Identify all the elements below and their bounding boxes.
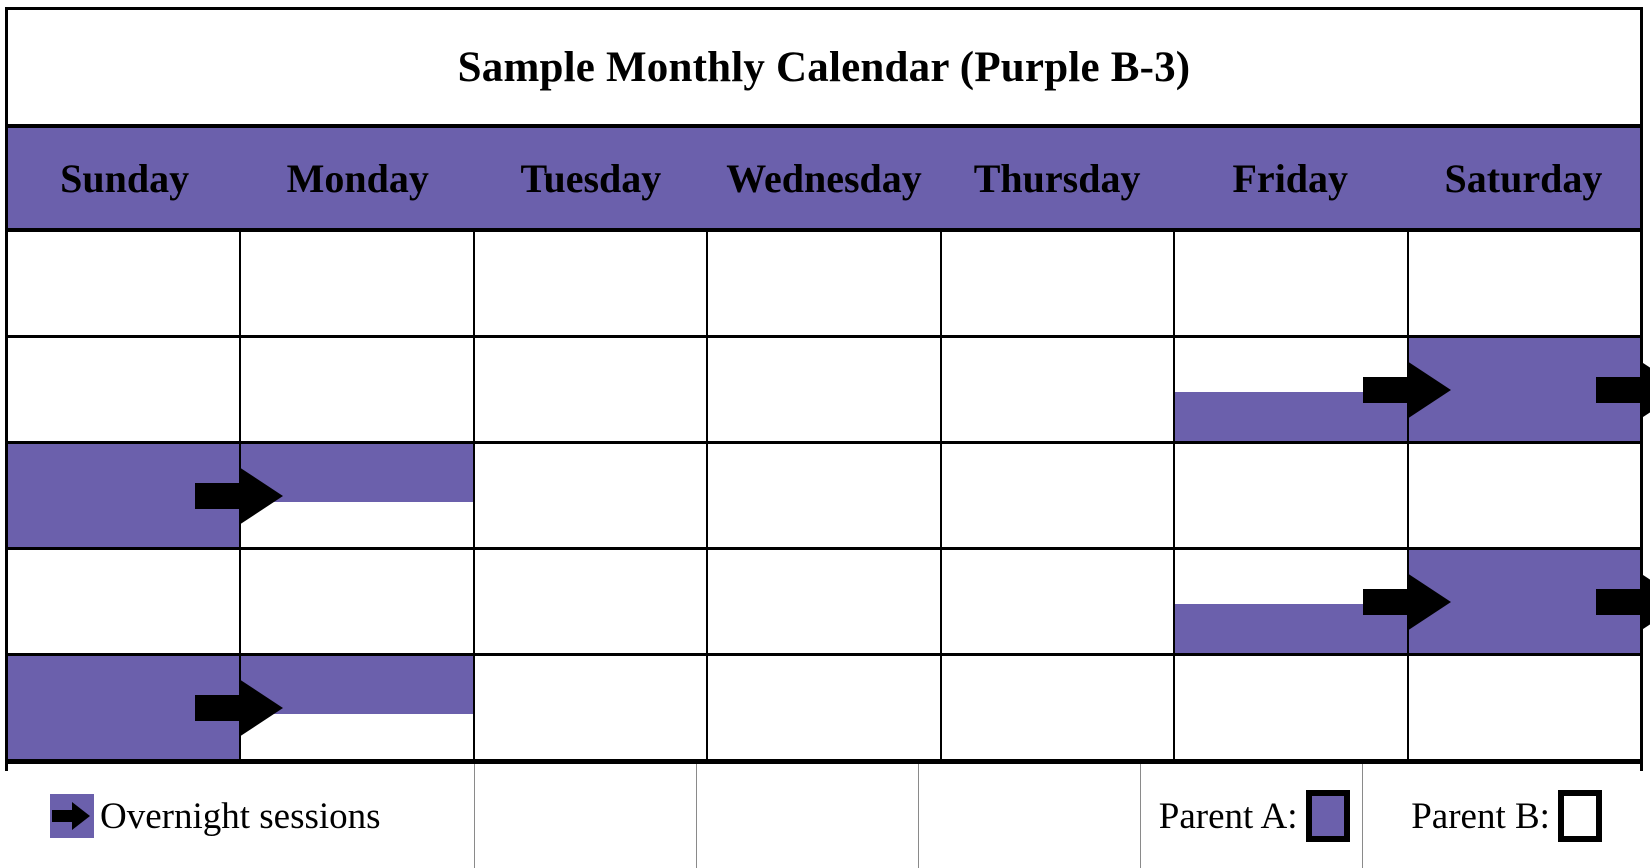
legend-parent-b-swatch [1558, 790, 1602, 842]
calendar-day-cell-thursday[interactable] [942, 338, 1175, 441]
calendar-day-cell-thursday[interactable] [942, 550, 1175, 653]
page-title: Sample Monthly Calendar (Purple B-3) [458, 43, 1191, 92]
calendar-day-cell-wednesday[interactable] [708, 656, 941, 759]
parent-a-block [1175, 604, 1406, 653]
calendar-day-cell-sunday[interactable] [8, 656, 241, 759]
weekday-header-tuesday: Tuesday [474, 128, 707, 228]
legend-parent-b-label: Parent B: [1411, 795, 1550, 838]
calendar-day-cell-monday[interactable] [241, 550, 474, 653]
calendar-day-cell-monday[interactable] [241, 338, 474, 441]
legend-parent-a-cell: Parent A: [1141, 764, 1363, 868]
calendar-day-cell-saturday[interactable] [1409, 232, 1640, 335]
calendar-day-cell-monday[interactable] [241, 444, 474, 547]
calendar-day-cell-saturday[interactable] [1409, 338, 1640, 441]
legend-overnight-cell: Overnight sessions [8, 764, 475, 868]
calendar-day-cell-wednesday[interactable] [708, 338, 941, 441]
monthly-calendar: Sample Monthly Calendar (Purple B-3) Sun… [5, 7, 1643, 771]
weekday-header-sunday: Sunday [8, 128, 241, 228]
calendar-day-cell-tuesday[interactable] [475, 232, 708, 335]
calendar-title-row: Sample Monthly Calendar (Purple B-3) [8, 10, 1640, 128]
overnight-arrow-icon [1596, 361, 1650, 419]
calendar-day-cell-tuesday[interactable] [475, 550, 708, 653]
calendar-day-cell-saturday[interactable] [1409, 444, 1640, 547]
calendar-day-cell-friday[interactable] [1175, 550, 1408, 653]
weekday-header-row: Sunday Monday Tuesday Wednesday Thursday… [8, 128, 1640, 232]
parent-a-block [1409, 338, 1640, 441]
legend-parent-a-label: Parent A: [1159, 795, 1298, 838]
calendar-day-cell-friday[interactable] [1175, 338, 1408, 441]
calendar-day-cell-thursday[interactable] [942, 656, 1175, 759]
weekday-header-friday: Friday [1174, 128, 1407, 228]
legend-spacer-cell-1 [475, 764, 697, 868]
calendar-day-cell-tuesday[interactable] [475, 338, 708, 441]
weekday-header-thursday: Thursday [941, 128, 1174, 228]
calendar-day-cell-monday[interactable] [241, 656, 474, 759]
overnight-arrow-icon [50, 794, 94, 838]
weekday-header-monday: Monday [241, 128, 474, 228]
legend-parent-a-swatch [1306, 790, 1350, 842]
weekday-header-wednesday: Wednesday [707, 128, 940, 228]
legend-row: Overnight sessions Parent A: Parent B: [8, 762, 1640, 868]
legend-overnight-label: Overnight sessions [100, 795, 381, 838]
legend-parent-b-cell: Parent B: [1363, 764, 1640, 868]
calendar-day-cell-friday[interactable] [1175, 656, 1408, 759]
calendar-day-cell-tuesday[interactable] [475, 444, 708, 547]
calendar-day-cell-saturday[interactable] [1409, 550, 1640, 653]
weekday-header-saturday: Saturday [1407, 128, 1640, 228]
calendar-week-row [8, 550, 1640, 656]
calendar-day-cell-sunday[interactable] [8, 338, 241, 441]
legend-spacer-cell-2 [697, 764, 919, 868]
overnight-arrow-icon [1596, 573, 1650, 631]
calendar-day-cell-monday[interactable] [241, 232, 474, 335]
parent-a-block [241, 444, 472, 502]
calendar-day-cell-wednesday[interactable] [708, 232, 941, 335]
calendar-day-cell-friday[interactable] [1175, 444, 1408, 547]
calendar-week-row [8, 232, 1640, 338]
legend-spacer-cell-3 [919, 764, 1141, 868]
calendar-day-cell-sunday[interactable] [8, 444, 241, 547]
parent-a-block [1409, 550, 1640, 653]
calendar-week-row [8, 338, 1640, 444]
parent-a-block [8, 444, 239, 547]
calendar-week-row [8, 656, 1640, 762]
calendar-day-cell-sunday[interactable] [8, 550, 241, 653]
calendar-day-cell-wednesday[interactable] [708, 444, 941, 547]
parent-a-block [241, 656, 472, 714]
calendar-day-cell-saturday[interactable] [1409, 656, 1640, 759]
calendar-day-cell-sunday[interactable] [8, 232, 241, 335]
calendar-day-cell-thursday[interactable] [942, 444, 1175, 547]
calendar-day-cell-tuesday[interactable] [475, 656, 708, 759]
parent-a-block [1175, 392, 1406, 441]
calendar-day-cell-friday[interactable] [1175, 232, 1408, 335]
calendar-week-grid [8, 232, 1640, 762]
calendar-week-row [8, 444, 1640, 550]
calendar-day-cell-thursday[interactable] [942, 232, 1175, 335]
calendar-day-cell-wednesday[interactable] [708, 550, 941, 653]
parent-a-block [8, 656, 239, 759]
